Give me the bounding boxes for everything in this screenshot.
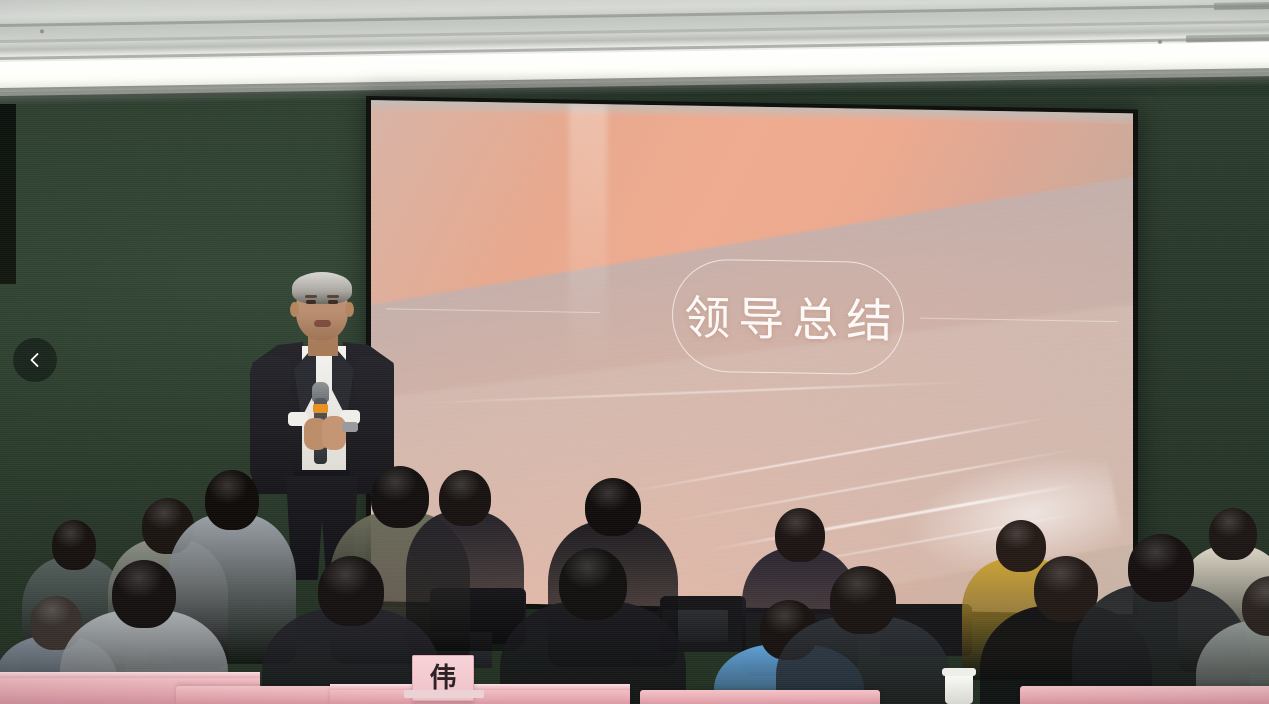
presenter-eyebrow-right bbox=[327, 295, 339, 298]
audience-member-head bbox=[1128, 534, 1194, 602]
audience-member-head bbox=[585, 478, 641, 536]
presenter-ear-right bbox=[345, 302, 354, 317]
previous-button[interactable] bbox=[13, 338, 57, 382]
audience-member bbox=[1196, 576, 1269, 704]
presenter-arm-left bbox=[250, 356, 290, 484]
presenter-eyebrow-left bbox=[305, 295, 317, 298]
chevron-left-icon bbox=[25, 350, 45, 370]
slide-title-text: 领导总结 bbox=[676, 282, 900, 352]
audience-member-head bbox=[830, 566, 896, 634]
desk bbox=[1020, 686, 1269, 704]
ceiling-vent bbox=[1186, 34, 1269, 42]
slide-title-pill: 领导总结 bbox=[672, 258, 904, 375]
microphone-accent-ring bbox=[313, 404, 328, 413]
desk bbox=[640, 690, 880, 704]
name-placard-text: 伟 bbox=[430, 665, 457, 692]
audience-member-head bbox=[775, 508, 825, 562]
presenter-eye-right bbox=[328, 300, 338, 304]
presenter-hand-right bbox=[322, 416, 346, 450]
audience-member-head bbox=[318, 556, 384, 626]
paper-cup-lid bbox=[942, 668, 976, 676]
audience-member bbox=[500, 548, 686, 704]
audience-member bbox=[776, 566, 950, 704]
presenter-arm-right bbox=[354, 356, 394, 484]
presentation-photo-stage: 领导总结 bbox=[0, 0, 1269, 704]
paper-cup bbox=[945, 672, 973, 704]
left-wall-edge bbox=[0, 104, 16, 284]
presenter-mouth bbox=[314, 320, 331, 327]
audience-member-head bbox=[559, 548, 627, 620]
audience-member-head bbox=[112, 560, 176, 628]
desk-edge bbox=[0, 672, 260, 678]
ceiling-vent bbox=[1214, 2, 1269, 10]
presenter-wristwatch bbox=[342, 422, 358, 432]
audience-member-head bbox=[205, 470, 259, 530]
presenter-eye-left bbox=[306, 300, 316, 304]
screen-reflection-sheen bbox=[569, 104, 607, 365]
presenter-ear-left bbox=[290, 302, 299, 317]
ceiling-fixture-dot bbox=[1158, 40, 1162, 44]
name-placard-stand bbox=[404, 690, 484, 698]
presenter-hair bbox=[292, 272, 352, 304]
audience-member-head bbox=[439, 470, 491, 526]
ceiling-fixture-dot bbox=[40, 29, 44, 33]
